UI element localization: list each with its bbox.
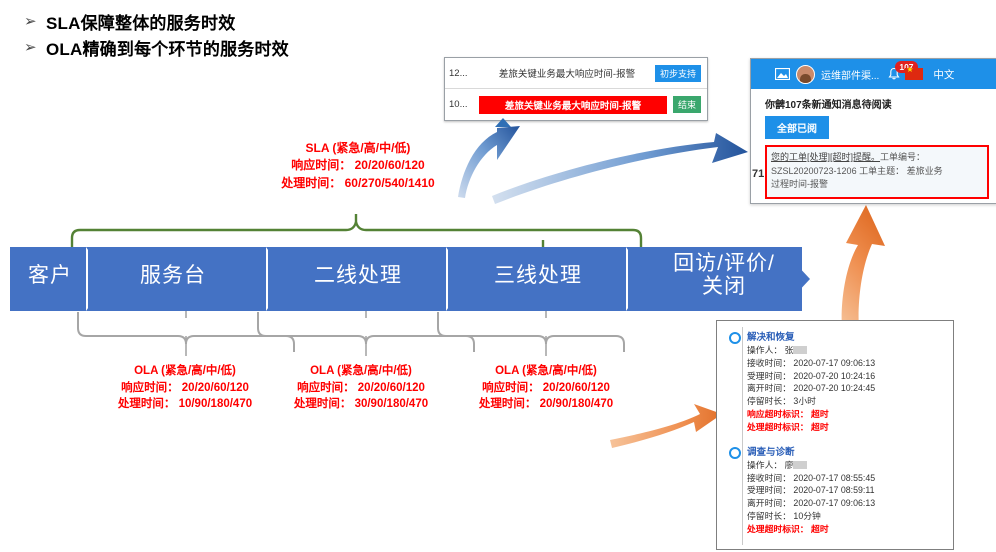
timeline-node-icon (729, 447, 741, 459)
timeline-entry-title: 解决和恢复 (747, 329, 947, 343)
chevron-divider-fill (448, 247, 470, 311)
language-selector[interactable]: 中文 (933, 67, 954, 82)
bullet-item-sla: ➢ SLA保障整体的服务时效 (24, 8, 544, 34)
ola-title: OLA (紧急/高/中/低) (85, 363, 285, 380)
timeline-duration: 停留时长： 10分钟 (747, 510, 947, 523)
ola-handling-time: 处理时间： 20/90/180/470 (446, 396, 646, 413)
notification-popup[interactable]: 运维部件渠... 107 中文 你朇107条新通知消息待阅读 全部已阅 您的工单… (750, 58, 996, 204)
sla-title: SLA (紧急/高/中/低) (258, 140, 458, 157)
mark-all-read-button[interactable]: 全部已阅 (765, 116, 829, 139)
alarm-id: 10... (449, 99, 479, 110)
timeline-response-overtime-flag: 响应超时标识： 超时 (747, 408, 947, 421)
timeline-operator: 操作人： 廖 (747, 459, 947, 472)
ola-response-time: 响应时间： 20/20/60/120 (261, 380, 461, 397)
ola-annotation-3: OLA (紧急/高/中/低) 响应时间： 20/20/60/120 处理时间： … (446, 363, 646, 413)
alarm-title-highlighted: 差旅关键业务最大响应时间-报警 (479, 96, 667, 114)
timeline-received-time: 接收时间： 2020-07-17 08:55:45 (747, 472, 947, 485)
ola-response-time: 响应时间： 20/20/60/120 (85, 380, 285, 397)
redacted-name (793, 461, 807, 469)
bullet-list: ➢ SLA保障整体的服务时效 ➢ OLA精确到每个环节的服务时效 (24, 8, 544, 60)
chevron-divider-fill (268, 247, 290, 311)
notification-item-line2: SZSL20200723-1206 工单主题： 差旅业务 (771, 165, 983, 179)
timeline-left-time: 离开时间： 2020-07-17 09:06:13 (747, 497, 947, 510)
timeline-entry-title: 调查与诊断 (747, 444, 947, 458)
blue-arrow-up (458, 126, 520, 198)
alarm-row[interactable]: 10... 差旅关键业务最大响应时间-报警 结束 (445, 89, 707, 120)
chevron-divider-fill (628, 247, 650, 311)
flow-stage-close[interactable]: 回访/评价/关闭 (670, 253, 778, 298)
timeline-left-time: 离开时间： 2020-07-20 10:24:45 (747, 382, 947, 395)
timeline-operator: 操作人： 张 (747, 344, 947, 357)
alarm-list-popup[interactable]: 12... 差旅关键业务最大响应时间-报警 初步支持 10... 差旅关键业务最… (444, 57, 708, 121)
bullet-arrow-icon: ➢ (24, 14, 46, 29)
row-number-label: 71 (751, 168, 765, 180)
bullet-label-ola: OLA精确到每个环节的服务时效 (46, 35, 289, 60)
notification-item-line1: 您的工单[处理][超时]提醒。工单编号： (771, 151, 983, 165)
timeline-entry[interactable]: 调查与诊断 操作人： 廖 接收时间： 2020-07-17 08:55:45 受… (717, 438, 953, 540)
notification-item[interactable]: 您的工单[处理][超时]提醒。工单编号： SZSL20200723-1206 工… (765, 145, 989, 199)
sla-handling-time: 处理时间： 60/270/540/1410 (258, 175, 458, 192)
timeline-accepted-time: 受理时间： 2020-07-17 08:59:11 (747, 484, 947, 497)
flag-icon (905, 68, 923, 80)
timeline-received-time: 接收时间： 2020-07-17 09:06:13 (747, 357, 947, 370)
status-badge: 初步支持 (655, 65, 701, 82)
popup-caret-icon (495, 118, 511, 127)
bell-icon[interactable]: 107 (887, 67, 901, 81)
ola-annotation-2: OLA (紧急/高/中/低) 响应时间： 20/20/60/120 处理时间： … (261, 363, 461, 413)
picture-icon[interactable] (775, 68, 790, 80)
flow-end-arrow (780, 247, 810, 311)
flow-stage-servicedesk[interactable]: 服务台 (118, 265, 228, 288)
flow-stage-second-line[interactable]: 二线处理 (298, 265, 418, 288)
ola-handling-time: 处理时间： 30/90/180/470 (261, 396, 461, 413)
redacted-name (793, 346, 807, 354)
timeline-handling-overtime-flag: 处理超时标识： 超时 (747, 523, 947, 536)
alarm-title: 差旅关键业务最大响应时间-报警 (479, 66, 655, 80)
timeline-node-icon (729, 332, 741, 344)
notification-summary: 你朇107条新通知消息待阅读 (765, 96, 989, 111)
bullet-label-sla: SLA保障整体的服务时效 (46, 9, 235, 34)
alarm-id: 12... (449, 68, 479, 79)
ola-annotation-1: OLA (紧急/高/中/低) 响应时间： 20/20/60/120 处理时间： … (85, 363, 285, 413)
timeline-handling-overtime-flag: 处理超时标识： 超时 (747, 421, 947, 434)
status-badge: 结束 (673, 96, 701, 113)
username-label[interactable]: 运维部件渠... (821, 67, 879, 82)
ola-response-time: 响应时间： 20/20/60/120 (446, 380, 646, 397)
ola-title: OLA (紧急/高/中/低) (446, 363, 646, 380)
ola-brace-2 (258, 312, 474, 352)
sla-annotation: SLA (紧急/高/中/低) 响应时间： 20/20/60/120 处理时间： … (258, 140, 458, 192)
blue-arrow-right (492, 133, 748, 204)
avatar[interactable] (796, 65, 815, 84)
orange-arrow-up (842, 205, 885, 330)
flow-stage-third-line[interactable]: 三线处理 (478, 265, 598, 288)
flow-stage-customer[interactable]: 客户 (14, 265, 86, 288)
alarm-row[interactable]: 12... 差旅关键业务最大响应时间-报警 初步支持 (445, 58, 707, 89)
bullet-arrow-icon: ➢ (24, 40, 46, 55)
timeline-duration: 停留时长： 3小时 (747, 395, 947, 408)
ola-brace-3 (438, 312, 624, 352)
process-flow: 客户 服务台 二线处理 三线处理 回访/评价/关闭 (10, 247, 810, 311)
sla-response-time: 响应时间： 20/20/60/120 (258, 157, 458, 174)
notification-body: 你朇107条新通知消息待阅读 全部已阅 您的工单[处理][超时]提醒。工单编号：… (751, 89, 996, 199)
ola-title: OLA (紧急/高/中/低) (261, 363, 461, 380)
ticket-timeline-popup[interactable]: 解决和恢复 操作人： 张 接收时间： 2020-07-17 09:06:13 受… (716, 320, 954, 550)
timeline-entry[interactable]: 解决和恢复 操作人： 张 接收时间： 2020-07-17 09:06:13 受… (717, 321, 953, 438)
notification-header-bar: 运维部件渠... 107 中文 (751, 59, 996, 89)
chevron-divider-fill (88, 247, 110, 311)
ola-handling-time: 处理时间： 10/90/180/470 (85, 396, 285, 413)
ola-brace-1 (78, 312, 294, 352)
timeline-accepted-time: 受理时间： 2020-07-20 10:24:16 (747, 370, 947, 383)
notification-item-line3: 过程时间-报警 (771, 178, 983, 192)
